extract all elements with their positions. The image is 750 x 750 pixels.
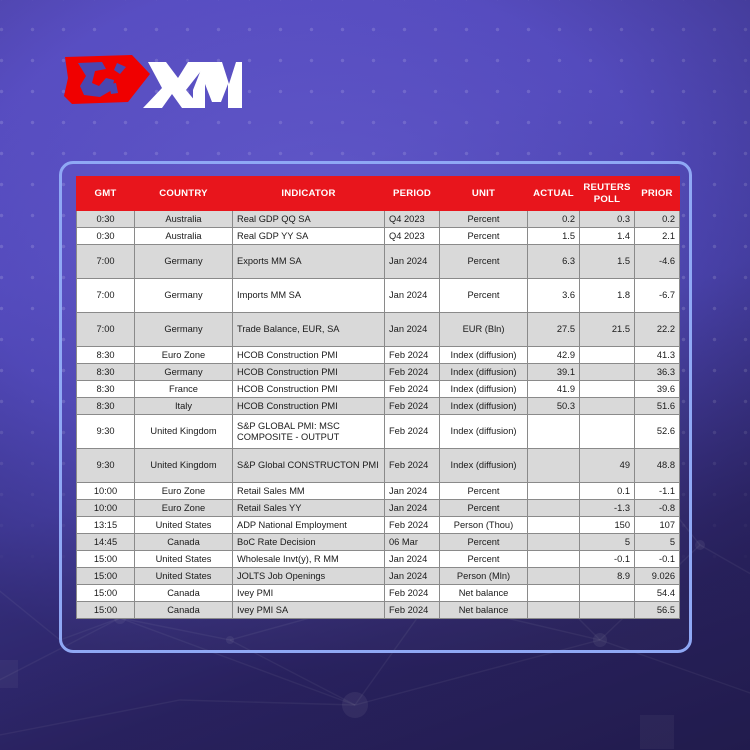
cell-gmt: 9:30 [77,449,135,483]
cell-poll: 1.5 [580,245,635,279]
cell-gmt: 10:00 [77,500,135,517]
cell-poll: -1.3 [580,500,635,517]
xm-wordmark [143,62,242,108]
cell-period: Jan 2024 [385,551,440,568]
cell-actual: 27.5 [528,313,580,347]
cell-indicator: HCOB Construction PMI [233,381,385,398]
table-row[interactable]: 8:30FranceHCOB Construction PMIFeb 2024I… [77,381,680,398]
cell-prior: 48.8 [635,449,680,483]
cell-country: Germany [135,245,233,279]
cell-indicator: Retail Sales MM [233,483,385,500]
cell-indicator: S&P GLOBAL PMI: MSC COMPOSITE - OUTPUT [233,415,385,449]
economic-calendar-frame: GMT COUNTRY INDICATOR PERIOD UNIT ACTUAL… [59,161,692,653]
cell-indicator: S&P Global CONSTRUCTON PMI [233,449,385,483]
cell-prior: 9.026 [635,568,680,585]
cell-country: Germany [135,279,233,313]
cell-unit: Index (diffusion) [440,398,528,415]
cell-prior: 5 [635,534,680,551]
cell-poll [580,415,635,449]
cell-unit: Index (diffusion) [440,347,528,364]
table-row[interactable]: 13:15United StatesADP National Employmen… [77,517,680,534]
cell-prior: -0.1 [635,551,680,568]
cell-prior: -1.1 [635,483,680,500]
cell-prior: 22.2 [635,313,680,347]
cell-poll [580,381,635,398]
cell-country: United States [135,517,233,534]
table-row[interactable]: 7:00GermanyTrade Balance, EUR, SAJan 202… [77,313,680,347]
cell-prior: 107 [635,517,680,534]
cell-indicator: Ivey PMI SA [233,602,385,619]
cell-period: Jan 2024 [385,483,440,500]
cell-period: Feb 2024 [385,585,440,602]
cell-prior: 52.6 [635,415,680,449]
cell-poll: 1.8 [580,279,635,313]
cell-unit: Net balance [440,602,528,619]
column-header-country[interactable]: COUNTRY [135,177,233,211]
cell-indicator: Retail Sales YY [233,500,385,517]
cell-actual [528,449,580,483]
cell-gmt: 10:00 [77,483,135,500]
cell-unit: Net balance [440,585,528,602]
cell-poll [580,585,635,602]
cell-country: United Kingdom [135,449,233,483]
cell-period: 06 Mar [385,534,440,551]
cell-indicator: BoC Rate Decision [233,534,385,551]
cell-gmt: 0:30 [77,228,135,245]
cell-poll: 0.3 [580,211,635,228]
table-body: 0:30AustraliaReal GDP QQ SAQ4 2023Percen… [77,211,680,619]
xm-logo [62,50,242,112]
column-header-indicator[interactable]: INDICATOR [233,177,385,211]
cell-poll: 8.9 [580,568,635,585]
table-row[interactable]: 8:30ItalyHCOB Construction PMIFeb 2024In… [77,398,680,415]
xm-logo-svg [62,50,242,112]
table-header: GMT COUNTRY INDICATOR PERIOD UNIT ACTUAL… [77,177,680,211]
cell-unit: Index (diffusion) [440,449,528,483]
cell-country: Australia [135,228,233,245]
cell-gmt: 7:00 [77,313,135,347]
cell-country: Germany [135,313,233,347]
cell-unit: Percent [440,483,528,500]
cell-prior: -6.7 [635,279,680,313]
cell-gmt: 9:30 [77,415,135,449]
header-row: GMT COUNTRY INDICATOR PERIOD UNIT ACTUAL… [77,177,680,211]
cell-period: Feb 2024 [385,381,440,398]
cell-period: Jan 2024 [385,313,440,347]
cell-actual [528,483,580,500]
cell-country: Italy [135,398,233,415]
cell-unit: Index (diffusion) [440,364,528,381]
cell-indicator: Trade Balance, EUR, SA [233,313,385,347]
cell-period: Feb 2024 [385,364,440,381]
table-row[interactable]: 9:30United KingdomS&P Global CONSTRUCTON… [77,449,680,483]
cell-prior: 41.3 [635,347,680,364]
cell-poll: -0.1 [580,551,635,568]
cell-country: Canada [135,534,233,551]
cell-indicator: Ivey PMI [233,585,385,602]
table-row[interactable]: 7:00GermanyImports MM SAJan 2024Percent3… [77,279,680,313]
cell-indicator: Real GDP YY SA [233,228,385,245]
cell-poll: 0.1 [580,483,635,500]
cell-period: Jan 2024 [385,245,440,279]
cell-indicator: JOLTS Job Openings [233,568,385,585]
cell-period: Feb 2024 [385,602,440,619]
cell-unit: EUR (Bln) [440,313,528,347]
table-row[interactable]: 7:00GermanyExports MM SAJan 2024Percent6… [77,245,680,279]
cell-poll: 49 [580,449,635,483]
cell-actual [528,602,580,619]
cell-gmt: 15:00 [77,551,135,568]
cell-actual [528,517,580,534]
cell-gmt: 8:30 [77,398,135,415]
cell-actual [528,551,580,568]
table-row[interactable]: 10:00Euro ZoneRetail Sales MMJan 2024Per… [77,483,680,500]
cell-country: Canada [135,585,233,602]
cell-gmt: 8:30 [77,364,135,381]
table-row[interactable]: 15:00CanadaIvey PMIFeb 2024Net balance54… [77,585,680,602]
cell-actual [528,534,580,551]
cell-period: Jan 2024 [385,568,440,585]
cell-gmt: 8:30 [77,347,135,364]
cell-unit: Percent [440,279,528,313]
cell-indicator: HCOB Construction PMI [233,347,385,364]
cell-period: Jan 2024 [385,500,440,517]
cell-period: Feb 2024 [385,398,440,415]
cell-indicator: HCOB Construction PMI [233,398,385,415]
cell-actual [528,415,580,449]
cell-unit: Index (diffusion) [440,415,528,449]
cell-prior: 39.6 [635,381,680,398]
cell-country: Euro Zone [135,483,233,500]
cell-unit: Percent [440,534,528,551]
cell-poll [580,602,635,619]
table-row[interactable]: 0:30AustraliaReal GDP YY SAQ4 2023Percen… [77,228,680,245]
cell-actual: 50.3 [528,398,580,415]
cell-gmt: 14:45 [77,534,135,551]
cell-gmt: 0:30 [77,211,135,228]
bull-logo-icon [64,55,150,104]
cell-gmt: 8:30 [77,381,135,398]
cell-gmt: 7:00 [77,279,135,313]
cell-period: Feb 2024 [385,415,440,449]
cell-period: Q4 2023 [385,228,440,245]
cell-country: Euro Zone [135,347,233,364]
cell-period: Jan 2024 [385,279,440,313]
cell-actual: 0.2 [528,211,580,228]
cell-gmt: 15:00 [77,602,135,619]
cell-indicator: Real GDP QQ SA [233,211,385,228]
cell-poll: 150 [580,517,635,534]
cell-country: United States [135,568,233,585]
cell-actual: 3.6 [528,279,580,313]
table-row[interactable]: 14:45CanadaBoC Rate Decision06 MarPercen… [77,534,680,551]
cell-period: Q4 2023 [385,211,440,228]
cell-actual: 1.5 [528,228,580,245]
cell-actual: 42.9 [528,347,580,364]
cell-country: United Kingdom [135,415,233,449]
column-header-period[interactable]: PERIOD [385,177,440,211]
cell-gmt: 15:00 [77,568,135,585]
table-row[interactable]: 15:00United StatesWholesale Invt(y), R M… [77,551,680,568]
cell-prior: 2.1 [635,228,680,245]
cell-gmt: 15:00 [77,585,135,602]
cell-indicator: Exports MM SA [233,245,385,279]
cell-indicator: HCOB Construction PMI [233,364,385,381]
cell-indicator: Imports MM SA [233,279,385,313]
cell-poll: 1.4 [580,228,635,245]
cell-prior: -4.6 [635,245,680,279]
cell-country: Australia [135,211,233,228]
cell-actual [528,500,580,517]
cell-poll [580,364,635,381]
cell-prior: 51.6 [635,398,680,415]
cell-actual: 39.1 [528,364,580,381]
table-row[interactable]: 15:00United StatesJOLTS Job OpeningsJan … [77,568,680,585]
table-row[interactable]: 0:30AustraliaReal GDP QQ SAQ4 2023Percen… [77,211,680,228]
cell-poll: 21.5 [580,313,635,347]
cell-country: Canada [135,602,233,619]
cell-indicator: Wholesale Invt(y), R MM [233,551,385,568]
column-header-unit[interactable]: UNIT [440,177,528,211]
cell-country: France [135,381,233,398]
cell-country: Euro Zone [135,500,233,517]
cell-actual [528,585,580,602]
cell-actual [528,568,580,585]
table-row[interactable]: 8:30Euro ZoneHCOB Construction PMIFeb 20… [77,347,680,364]
cell-prior: 36.3 [635,364,680,381]
cell-prior: 56.5 [635,602,680,619]
cell-poll [580,347,635,364]
cell-unit: Person (Thou) [440,517,528,534]
column-header-gmt[interactable]: GMT [77,177,135,211]
table-row[interactable]: 15:00CanadaIvey PMI SAFeb 2024Net balanc… [77,602,680,619]
cell-unit: Index (diffusion) [440,381,528,398]
cell-unit: Percent [440,551,528,568]
cell-country: Germany [135,364,233,381]
cell-unit: Percent [440,245,528,279]
table-row[interactable]: 9:30United KingdomS&P GLOBAL PMI: MSC CO… [77,415,680,449]
cell-actual: 6.3 [528,245,580,279]
cell-gmt: 7:00 [77,245,135,279]
cell-period: Feb 2024 [385,517,440,534]
economic-calendar-table: GMT COUNTRY INDICATOR PERIOD UNIT ACTUAL… [76,176,680,619]
column-header-prior[interactable]: PRIOR [635,177,680,211]
cell-gmt: 13:15 [77,517,135,534]
table-row[interactable]: 8:30GermanyHCOB Construction PMIFeb 2024… [77,364,680,381]
cell-unit: Percent [440,500,528,517]
cell-indicator: ADP National Employment [233,517,385,534]
cell-prior: 0.2 [635,211,680,228]
cell-prior: -0.8 [635,500,680,517]
cell-unit: Percent [440,211,528,228]
cell-period: Feb 2024 [385,449,440,483]
table-row[interactable]: 10:00Euro ZoneRetail Sales YYJan 2024Per… [77,500,680,517]
column-header-actual[interactable]: ACTUAL [528,177,580,211]
cell-period: Feb 2024 [385,347,440,364]
cell-unit: Person (Mln) [440,568,528,585]
cell-actual: 41.9 [528,381,580,398]
cell-country: United States [135,551,233,568]
cell-poll [580,398,635,415]
cell-poll: 5 [580,534,635,551]
column-header-reuters-poll[interactable]: REUTERS POLL [580,177,635,211]
cell-prior: 54.4 [635,585,680,602]
cell-unit: Percent [440,228,528,245]
